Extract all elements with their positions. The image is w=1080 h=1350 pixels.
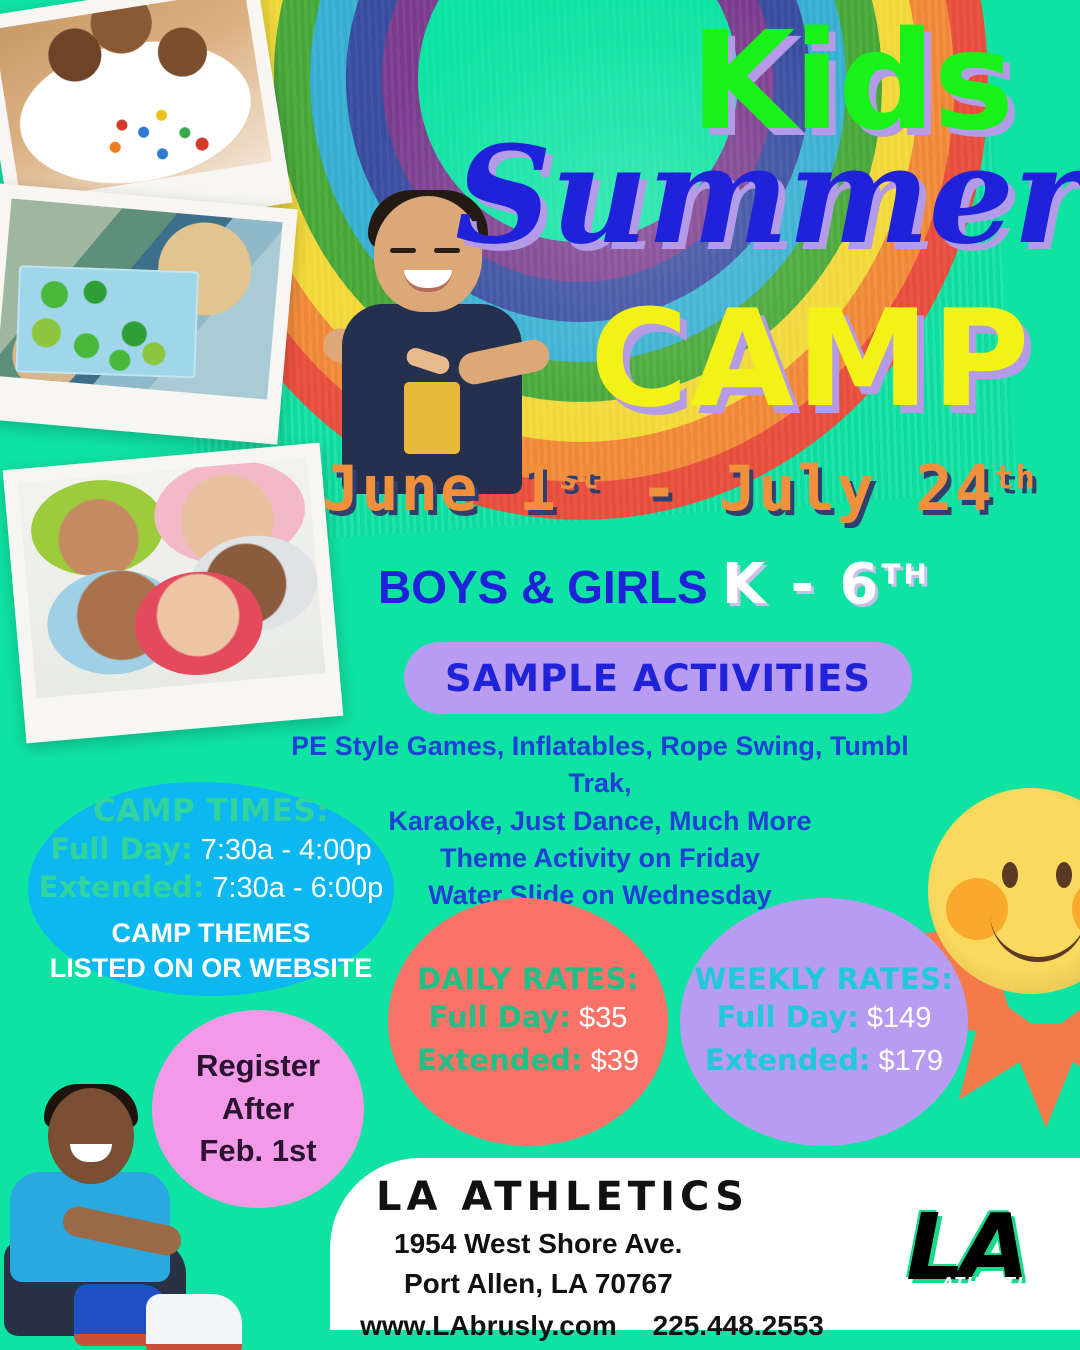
grades-sup: TH	[881, 557, 930, 590]
logo-subtitle: ATHLETICS	[942, 1274, 1050, 1292]
weekly-rates-value: $149	[867, 1002, 932, 1034]
daily-rates-row: Extended: $39	[417, 1039, 639, 1082]
audience-who: BOYS & GIRLS	[378, 561, 708, 613]
camp-times-row: Full Day: 7:30a - 4:00p	[50, 831, 371, 870]
camp-times-panel: CAMP TIMES: Full Day: 7:30a - 4:00p Exte…	[28, 782, 394, 996]
daily-rates-heading: DAILY RATES:	[417, 962, 639, 996]
summer-camp-flyer: Kids Summer CAMP June 1st - July 24th BO…	[0, 0, 1080, 1350]
camp-times-value: 7:30a - 6:00p	[212, 872, 383, 904]
photo-kids-handprint-poster	[0, 183, 298, 444]
address-line-1: 1954 West Shore Ave.	[394, 1228, 682, 1260]
headline-summer: Summer	[455, 128, 1080, 262]
daily-rates-label: Extended:	[417, 1043, 582, 1077]
business-name: LA ATHLETICS	[376, 1174, 749, 1220]
daily-rates-label: Full Day:	[429, 1000, 571, 1034]
daily-rates-value: $35	[579, 1002, 627, 1034]
sample-activities-label: SAMPLE ACTIVITIES	[445, 657, 871, 700]
weekly-rates-row: Extended: $179	[705, 1039, 943, 1082]
camp-times-row: Extended: 7:30a - 6:00p	[39, 869, 383, 908]
camp-themes-note-line1: CAMP THEMES	[111, 916, 310, 951]
daily-rates-row: Full Day: $35	[429, 996, 628, 1039]
camp-times-value: 7:30a - 4:00p	[201, 834, 372, 866]
camp-dates: June 1st - July 24th	[322, 458, 1037, 520]
weekly-rates-label: Full Day:	[717, 1000, 859, 1034]
camp-times-label: Extended:	[39, 870, 204, 904]
weekly-rates-blob: WEEKLY RATES: Full Day: $149 Extended: $…	[680, 898, 968, 1146]
camp-times-label: Full Day:	[50, 832, 192, 866]
weekly-rates-value: $179	[879, 1045, 944, 1077]
la-athletics-logo: LA ATHLETICS	[872, 1192, 1058, 1302]
register-line2: After	[222, 1088, 294, 1131]
audience-grades: K - 6TH	[722, 552, 930, 617]
camp-themes-note-line2: LISTED ON OR WEBSITE	[50, 951, 373, 986]
weekly-rates-heading: WEEKLY RATES:	[695, 962, 954, 996]
camp-times-heading: CAMP TIMES:	[93, 792, 329, 831]
audience-line: BOYS & GIRLSK - 6TH	[378, 552, 930, 617]
dates-mid: - July 24	[601, 452, 994, 525]
daily-rates-value: $39	[591, 1045, 639, 1077]
phone-number[interactable]: 225.448.2553	[653, 1310, 824, 1341]
register-badge: Register After Feb. 1st	[152, 1010, 364, 1208]
address-line-2: Port Allen, LA 70767	[404, 1268, 673, 1300]
dates-sup-first: st	[558, 458, 601, 496]
daily-rates-blob: DAILY RATES: Full Day: $35 Extended: $39	[388, 898, 668, 1146]
register-line3: Feb. 1st	[199, 1130, 316, 1173]
headline-camp: CAMP	[590, 292, 1032, 426]
weekly-rates-row: Full Day: $149	[717, 996, 932, 1039]
contact-row: www.LAbrusly.com 225.448.2553	[312, 1310, 872, 1342]
sample-activities-banner: SAMPLE ACTIVITIES	[404, 642, 912, 714]
grades-range: K - 6	[722, 552, 882, 617]
register-line1: Register	[196, 1045, 320, 1088]
photo-kids-circle-faces	[3, 443, 344, 744]
dates-sup-last: th	[994, 458, 1037, 496]
weekly-rates-label: Extended:	[705, 1043, 870, 1077]
website-link[interactable]: www.LAbrusly.com	[360, 1310, 617, 1341]
dates-pre: June 1	[322, 452, 558, 525]
